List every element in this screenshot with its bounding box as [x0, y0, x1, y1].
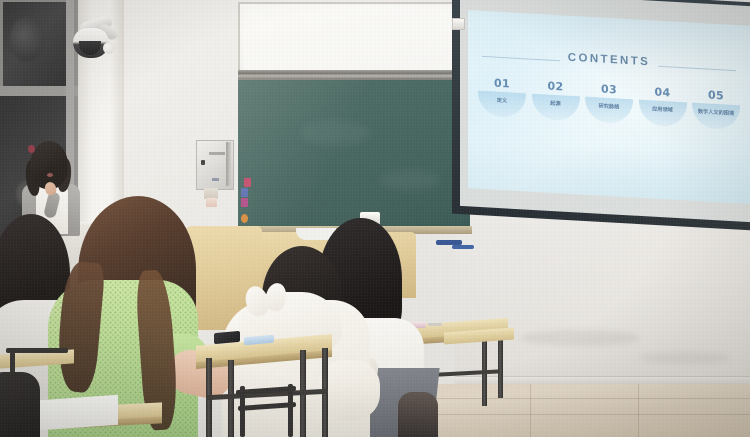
- classroom-photo: CONTENTS 01 定义 02 起源 03 研究脉络: [0, 0, 750, 437]
- window-reflection: [10, 16, 44, 62]
- desk-item-phone: [214, 331, 240, 344]
- chalk-smudge: [380, 170, 440, 190]
- screen-vignette: [468, 10, 750, 204]
- whiteboard-surface: [243, 6, 453, 70]
- board-magnet: [241, 214, 248, 223]
- student-arm: [0, 372, 40, 437]
- socket-plate: [206, 198, 217, 207]
- presenter-mouth: [47, 173, 53, 177]
- board-magnet: [244, 178, 251, 187]
- blackboard-sheen: [238, 78, 470, 230]
- panel-label: [209, 152, 225, 155]
- panel-lock-icon: [201, 160, 205, 165]
- camera-ir-illuminator: [103, 42, 115, 54]
- wall-scuff: [640, 352, 730, 364]
- light-switch[interactable]: [452, 18, 465, 30]
- chair-frame: [6, 348, 68, 353]
- panel-indicator: [212, 178, 219, 181]
- student-leg: [398, 392, 438, 437]
- wall-scuff: [520, 330, 640, 346]
- desk-item-pen: [428, 323, 442, 326]
- marker-pen: [452, 245, 474, 249]
- chair-leg: [288, 384, 293, 437]
- desk-leg: [498, 332, 503, 398]
- presenter-hair-clip: [28, 145, 35, 153]
- panel-door-seam: [226, 142, 231, 186]
- board-magnet: [241, 188, 248, 197]
- chalk-smudge: [300, 120, 370, 146]
- projected-slide: CONTENTS 01 定义 02 起源 03 研究脉络: [468, 10, 750, 204]
- chair-leg: [240, 386, 245, 437]
- board-magnet: [241, 198, 248, 207]
